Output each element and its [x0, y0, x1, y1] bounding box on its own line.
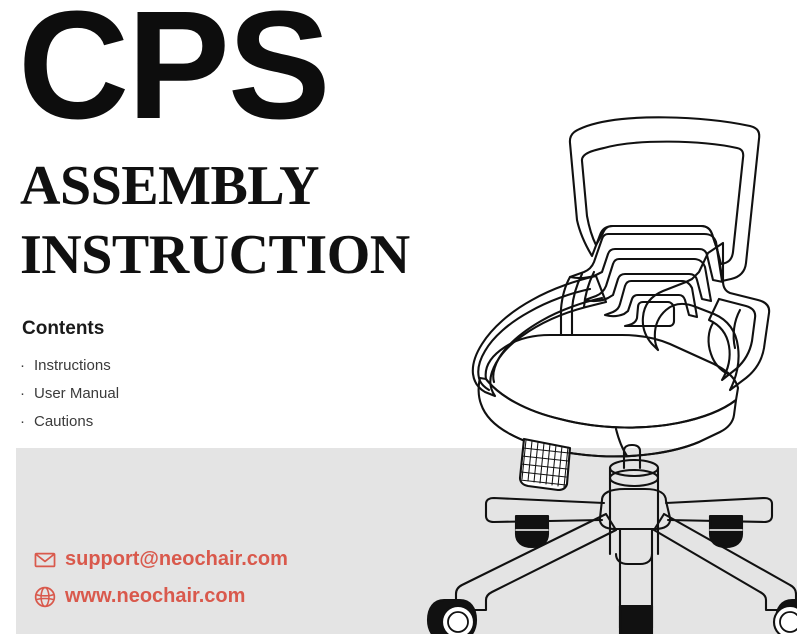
bullet-icon: ·: [20, 380, 34, 408]
headline-assembly: ASSEMBLY: [20, 158, 319, 214]
bullet-icon: ·: [20, 408, 34, 436]
office-chair-illustration: [420, 48, 797, 634]
list-item-label: User Manual: [34, 385, 119, 402]
contact-email[interactable]: support@neochair.com: [34, 548, 288, 571]
list-item: ·User Manual: [20, 380, 119, 408]
email-text: support@neochair.com: [65, 548, 288, 571]
assembly-instruction-cover: CPS ASSEMBLY INSTRUCTION Contents ·Instr…: [0, 0, 797, 634]
brand-title: CPS: [18, 0, 329, 142]
bullet-icon: ·: [20, 352, 34, 380]
contents-heading: Contents: [22, 318, 104, 340]
list-item-label: Cautions: [34, 413, 93, 430]
contact-website[interactable]: www.neochair.com: [34, 585, 245, 608]
contents-list: ·Instructions ·User Manual ·Cautions: [20, 352, 119, 436]
list-item: ·Instructions: [20, 352, 119, 380]
office-chair-line-drawing: [420, 48, 797, 634]
list-item: ·Cautions: [20, 408, 119, 436]
headline-instruction: INSTRUCTION: [20, 227, 410, 283]
globe-icon: [34, 586, 56, 608]
list-item-label: Instructions: [34, 357, 111, 374]
website-text: www.neochair.com: [65, 585, 245, 608]
envelope-icon: [34, 549, 56, 571]
